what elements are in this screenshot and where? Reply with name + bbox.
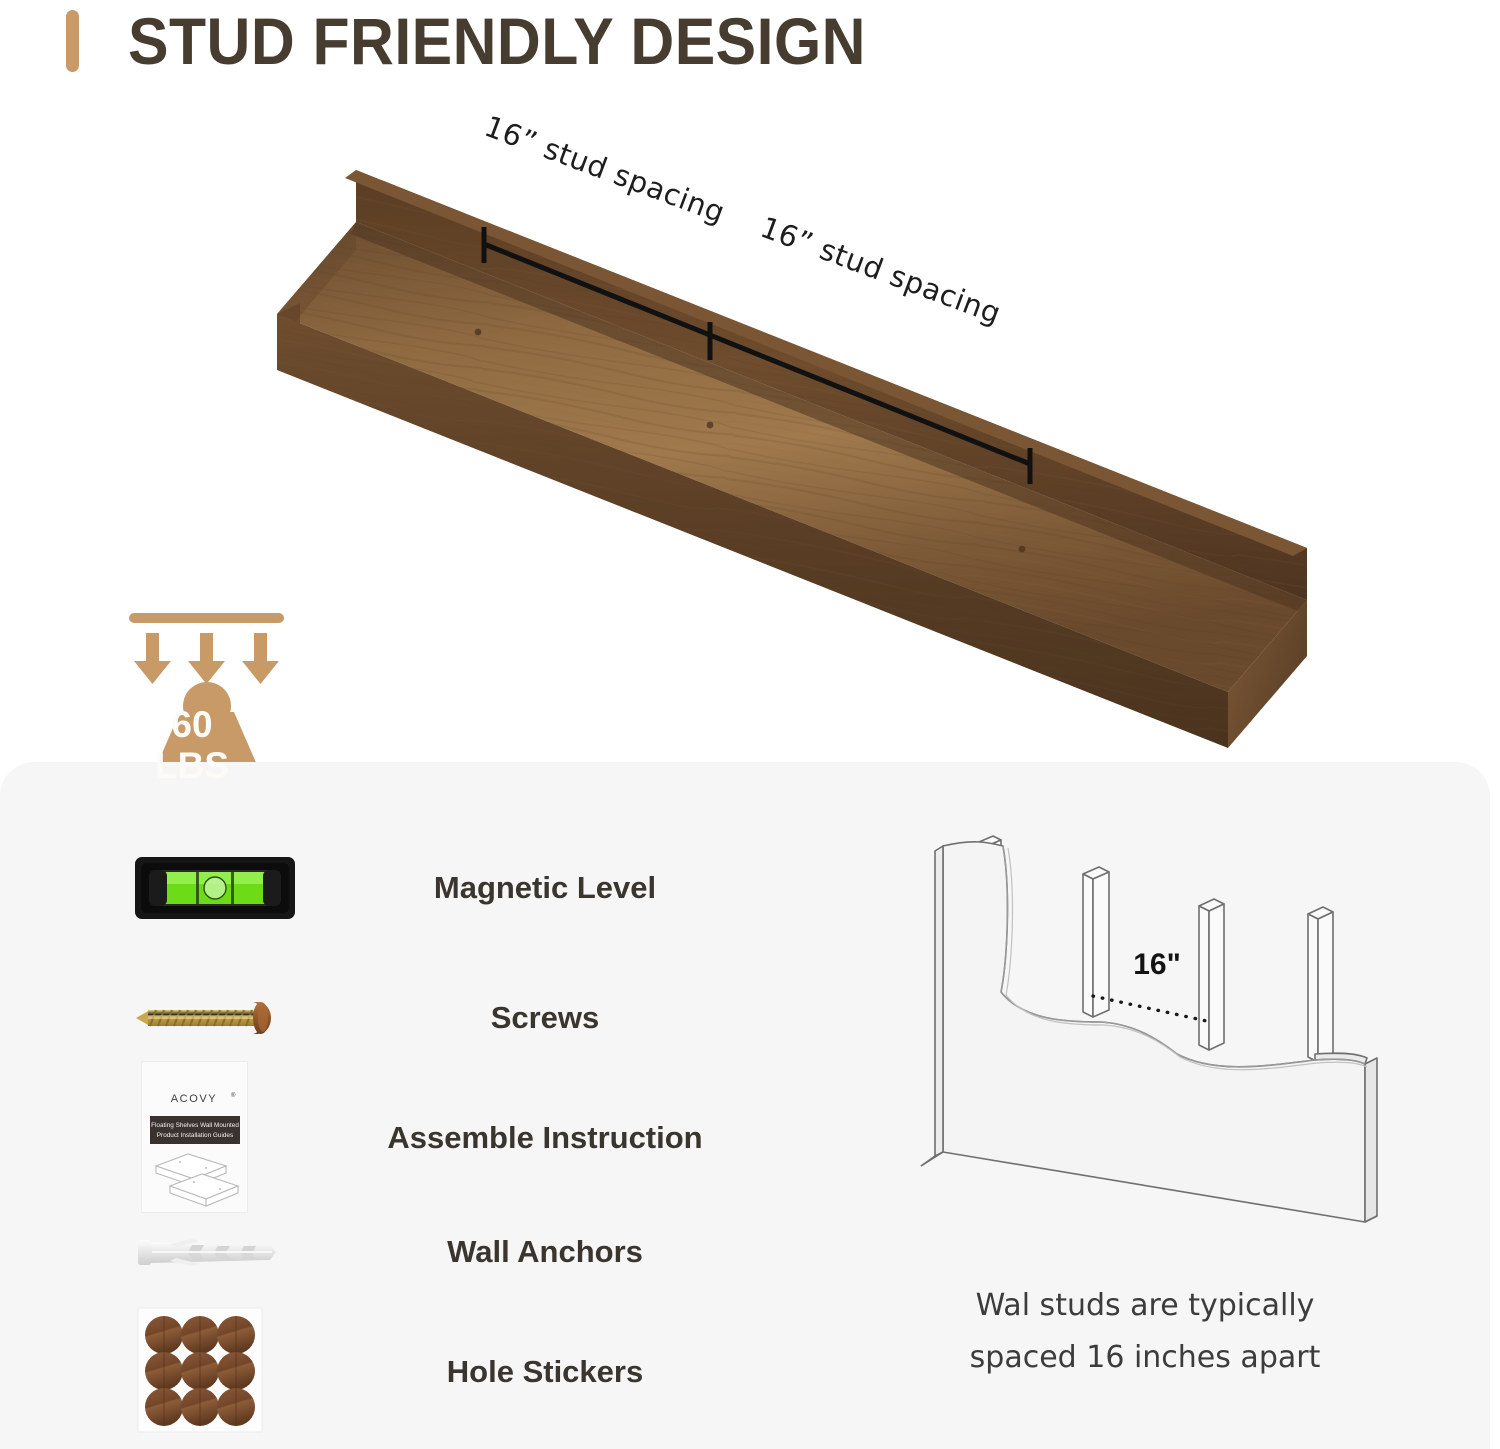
list-item: Magnetic Level	[0, 828, 760, 948]
magnetic-level-icon	[130, 828, 300, 948]
list-item: Wall Anchors	[0, 1192, 760, 1312]
list-item: Hole Stickers	[0, 1302, 760, 1442]
hero-section: 16” stud spacing 16” stud spacing 60 LBS	[0, 100, 1500, 760]
stud-spacing-measurement: 16"	[1133, 948, 1181, 981]
stud-spacing-dotted-line	[1093, 996, 1211, 1022]
svg-text:Floating Shelves Wall Mounted: Floating Shelves Wall Mounted	[151, 1122, 239, 1129]
accessory-label: Hole Stickers	[330, 1302, 760, 1442]
svg-text:®: ®	[231, 1092, 236, 1099]
hole-sticker-sheet-icon	[130, 1302, 300, 1442]
caption-line-2: spaced 16 inches apart	[880, 1332, 1410, 1384]
svg-text:Product Installation Guides: Product Installation Guides	[157, 1132, 233, 1139]
caption-line-1: Wal studs are typically	[880, 1280, 1410, 1332]
wall-anchor-icon	[130, 1192, 300, 1312]
page-title: STUD FRIENDLY DESIGN	[128, 2, 866, 80]
wall-studs-diagram: 16"	[915, 822, 1395, 1272]
accessory-label: Magnetic Level	[330, 828, 760, 948]
accessories-list: Magnetic Level	[0, 762, 760, 1449]
wall-diagram-caption: Wal studs are typically spaced 16 inches…	[880, 1280, 1410, 1384]
booklet-brand: ACOVY	[171, 1093, 218, 1105]
accessory-label: Wall Anchors	[330, 1192, 760, 1312]
accessories-panel: Magnetic Level	[0, 762, 1490, 1449]
page-header: STUD FRIENDLY DESIGN	[0, 0, 1500, 100]
title-accent-bar	[66, 10, 79, 72]
